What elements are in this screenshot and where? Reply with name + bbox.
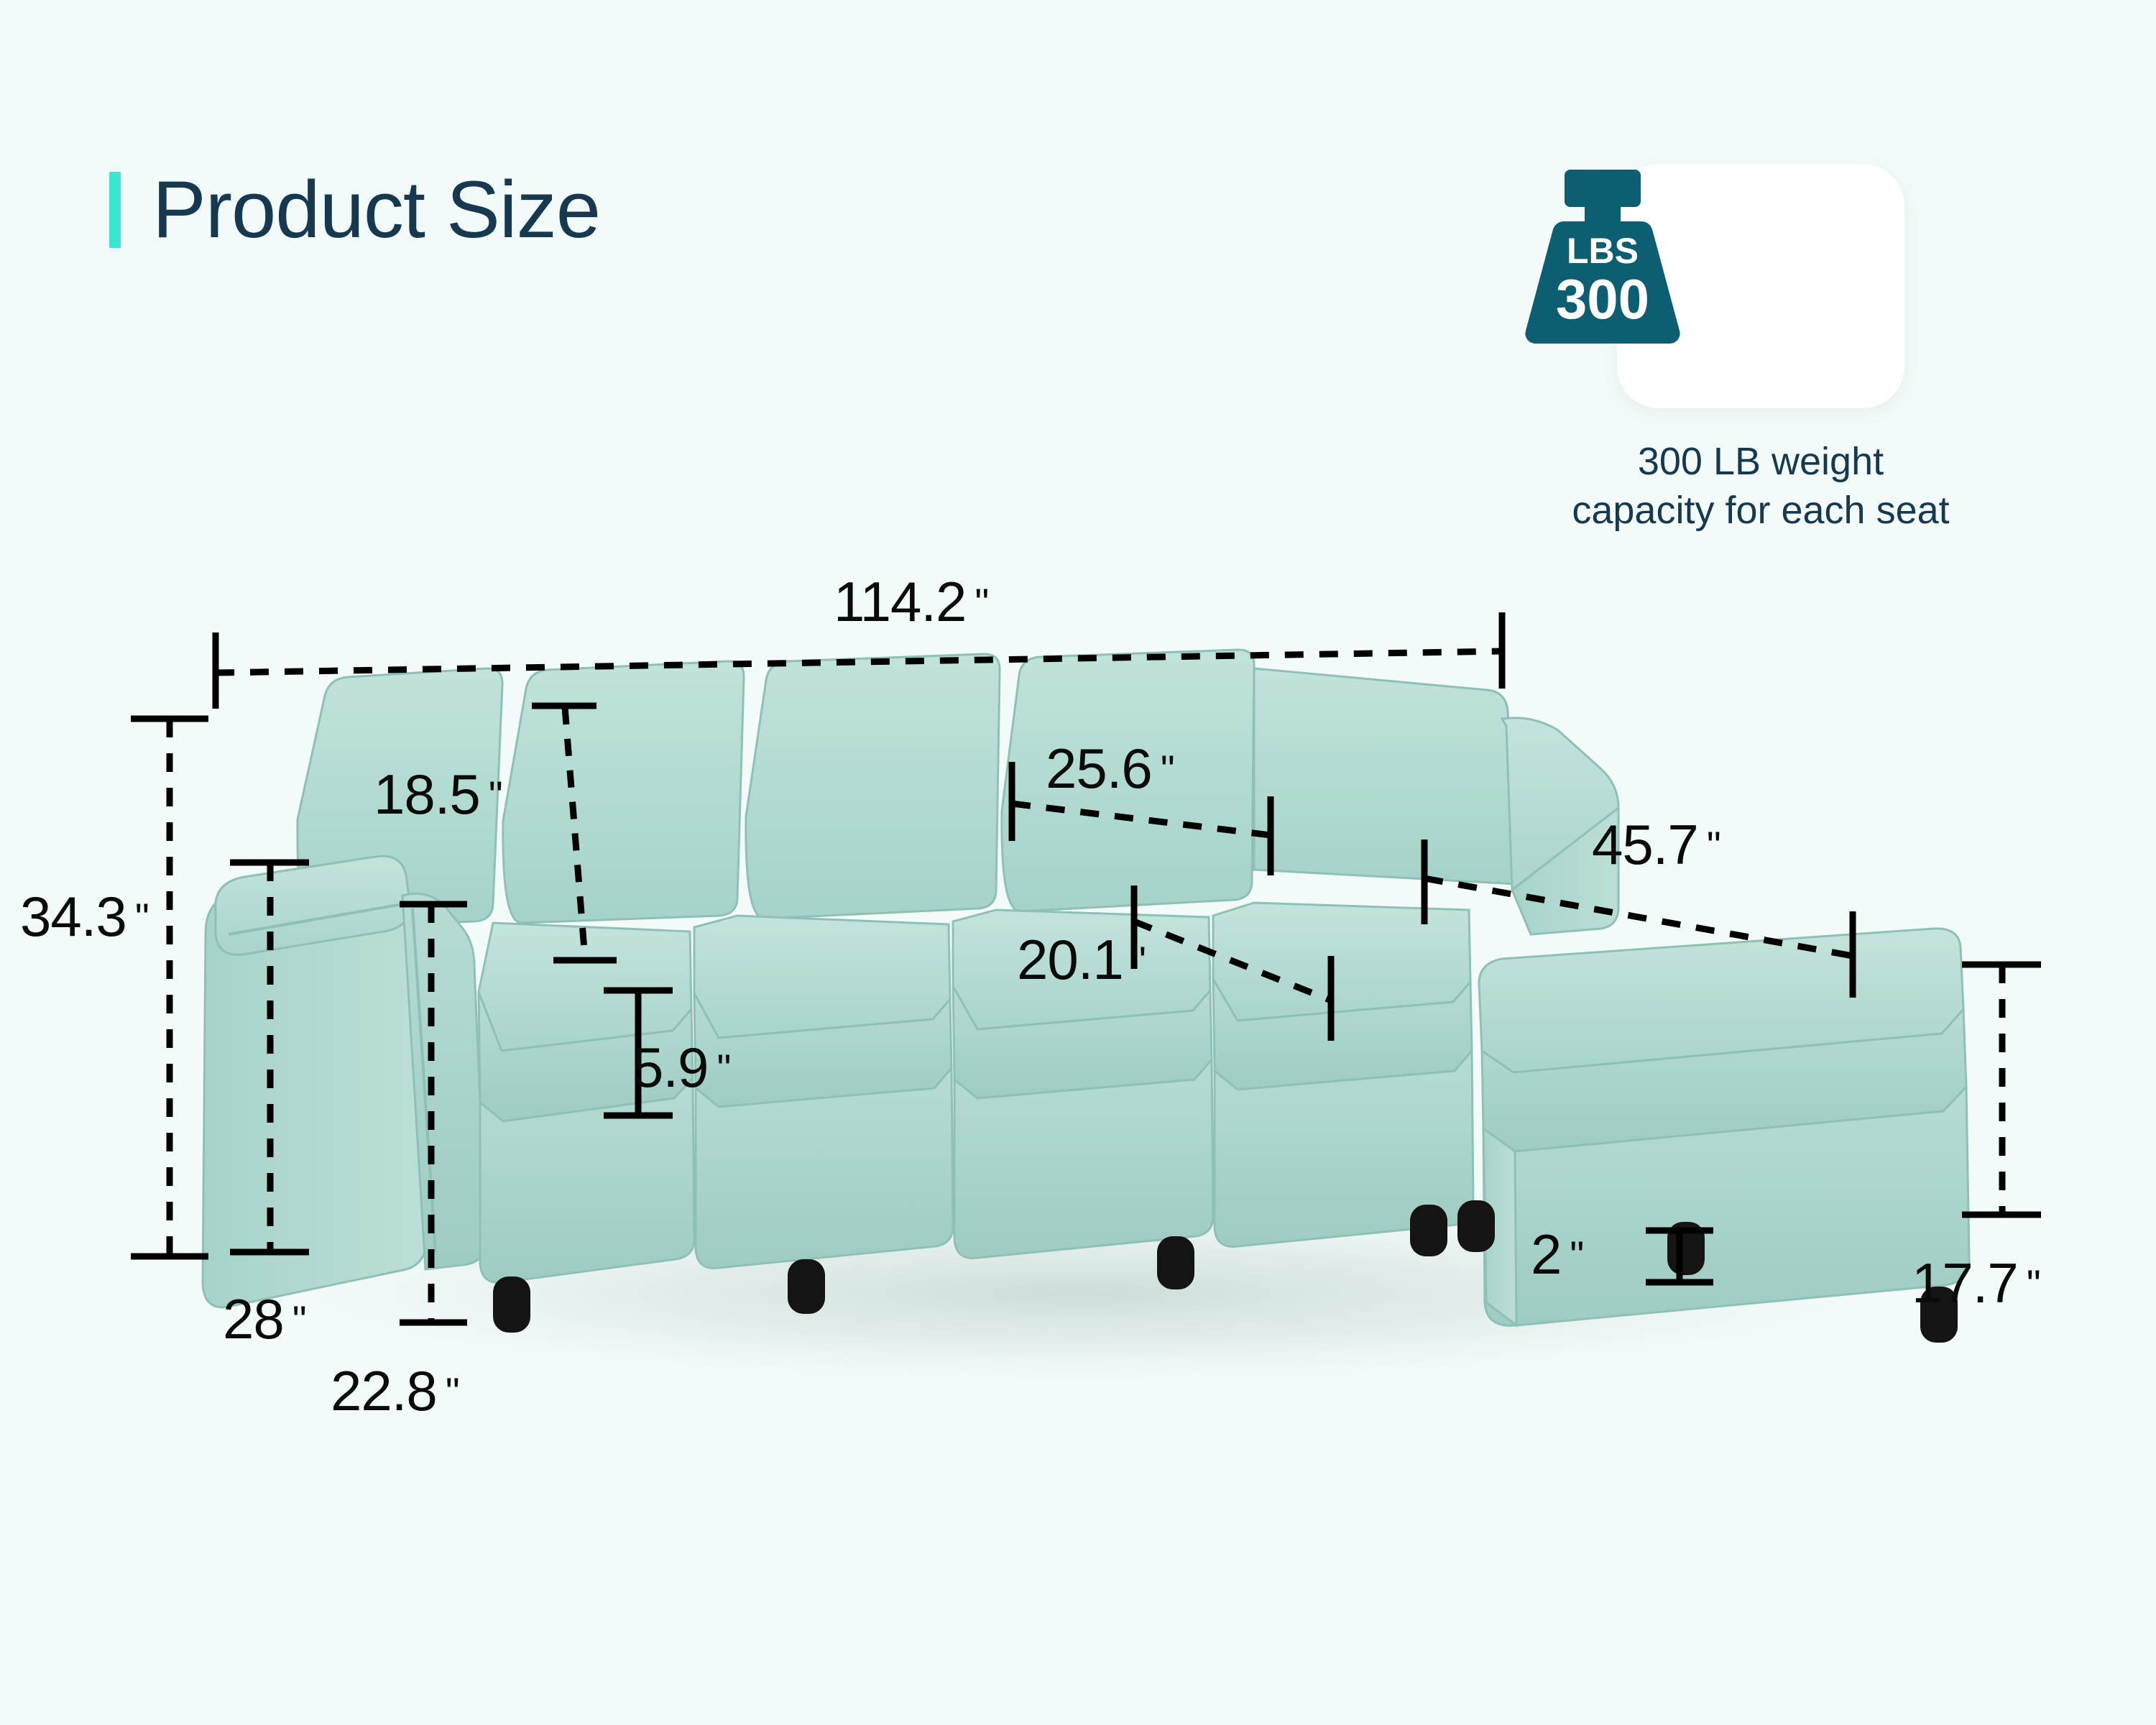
dimension-label-back-cushion-height: 18.5"	[374, 762, 503, 827]
corner-backrest	[1254, 668, 1516, 884]
dimension-label-leg-height: 2"	[1531, 1222, 1584, 1287]
product-size-infographic: Product Size LBS 300 300 LB weight capac…	[0, 0, 2156, 1725]
dimension-label-seat-depth: 20.1"	[1017, 927, 1146, 993]
sofa-diagram	[0, 0, 2156, 1725]
dimline-seat-height	[1962, 965, 2041, 1215]
dimension-label-overall-width: 114.2"	[834, 569, 989, 635]
back-cushion-2	[503, 661, 744, 923]
leg-1	[493, 1276, 530, 1333]
left-armrest	[203, 856, 486, 1307]
dimension-label-overall-height: 34.3"	[20, 884, 149, 949]
dimline-overall-height	[131, 719, 208, 1256]
seat-cushion-2-top	[694, 916, 950, 1038]
dimension-label-arm-depth: 22.8"	[331, 1358, 460, 1424]
leg-5	[1457, 1200, 1495, 1252]
back-cushion-3	[746, 654, 1000, 919]
dimension-label-seat-cushion-thickness: 5.9"	[632, 1035, 731, 1100]
dimension-label-chaise-depth: 45.7"	[1592, 812, 1721, 878]
leg-3	[1157, 1236, 1194, 1289]
dimension-label-seat-height: 17.7"	[1912, 1251, 2041, 1316]
leg-4	[1410, 1205, 1447, 1256]
leg-2	[788, 1259, 825, 1314]
dimension-label-seat-cushion-width: 25.6"	[1046, 736, 1175, 801]
dimension-label-arm-height: 28"	[223, 1287, 307, 1352]
